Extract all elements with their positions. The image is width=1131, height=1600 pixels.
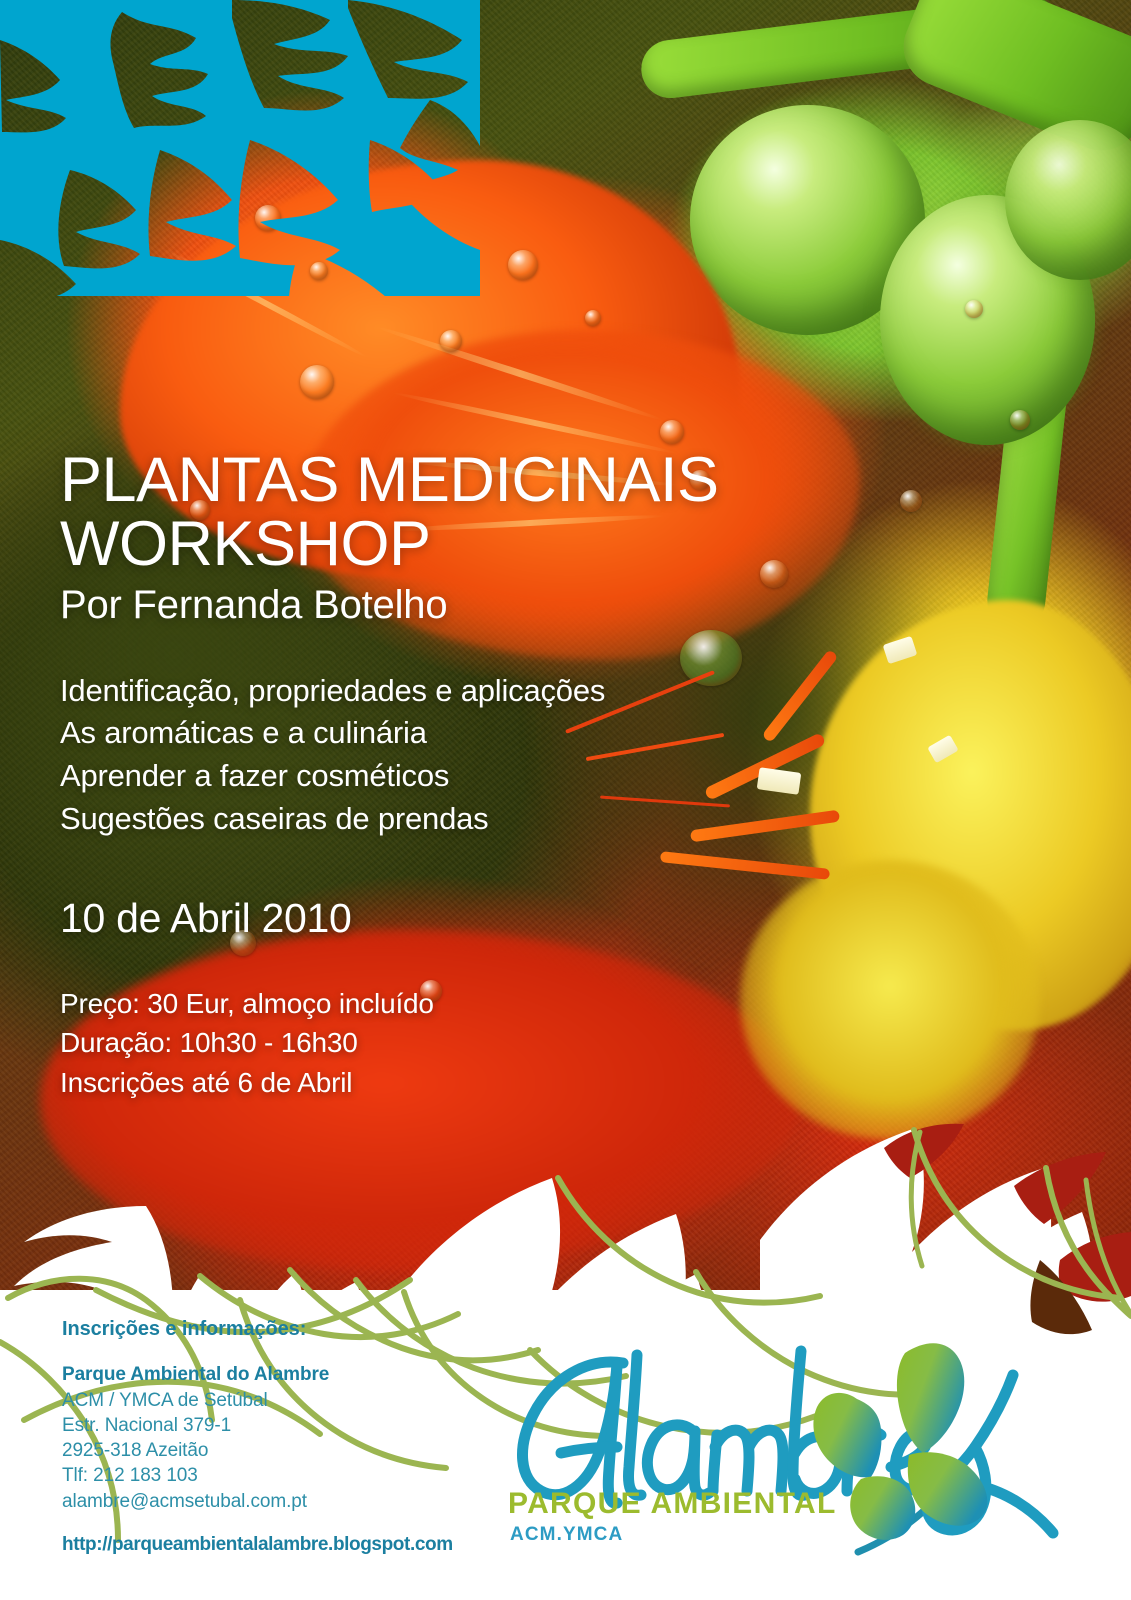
organization-name: Parque Ambiental do Alambre [62,1363,532,1388]
list-item: Sugestões caseiras de prendas [60,798,920,841]
water-droplet [660,420,684,444]
page-title: PLANTAS MEDICINAIS WORKSHOP [60,448,920,577]
list-item: Inscrições até 6 de Abril [60,1063,920,1103]
author-line: Por Fernanda Botelho [60,583,920,628]
poster: PLANTAS MEDICINAIS WORKSHOP Por Fernanda… [0,0,1131,1600]
event-details-list: Preço: 30 Eur, almoço incluído Duração: … [60,984,920,1103]
logo-subtitle: PARQUE AMBIENTAL [508,1487,837,1521]
water-droplet [585,310,601,326]
contact-line: 2925-318 Azeitão [62,1438,532,1463]
contact-line: ACM / YMCA de Setúbal [62,1388,532,1413]
contact-line: Estr. Nacional 379-1 [62,1413,532,1438]
water-droplet [965,300,983,318]
logo-affiliation: ACM.YMCA [510,1524,623,1546]
contact-heading: Inscrições e informações: [62,1318,532,1341]
list-item: As aromáticas e a culinária [60,712,920,755]
alambre-logo: PARQUE AMBIENTAL ACM.YMCA [505,1335,1065,1565]
water-droplet [508,250,538,280]
list-item: Preço: 30 Eur, almoço incluído [60,984,920,1024]
title-line-1: PLANTAS MEDICINAIS [60,445,718,515]
water-droplet [1010,410,1030,430]
contact-email[interactable]: alambre@acmsetubal.com.pt [62,1489,532,1514]
topics-list: Identificação, propriedades e aplicações… [60,670,920,841]
list-item: Identificação, propriedades e aplicações [60,670,920,713]
contact-block: Inscrições e informações: Parque Ambient… [62,1318,532,1556]
cyan-leaf-panel [0,0,480,330]
list-item: Aprender a fazer cosméticos [60,755,920,798]
water-droplet [300,365,334,399]
main-text-block: PLANTAS MEDICINAIS WORKSHOP Por Fernanda… [60,448,920,1103]
water-droplet [440,330,462,352]
contact-website-url[interactable]: http://parqueambientalalambre.blogspot.c… [62,1534,532,1556]
title-line-2: WORKSHOP [60,512,920,576]
list-item: Duração: 10h30 - 16h30 [60,1023,920,1063]
contact-phone: Tlf: 212 183 103 [62,1463,532,1488]
event-date: 10 de Abril 2010 [60,895,920,942]
